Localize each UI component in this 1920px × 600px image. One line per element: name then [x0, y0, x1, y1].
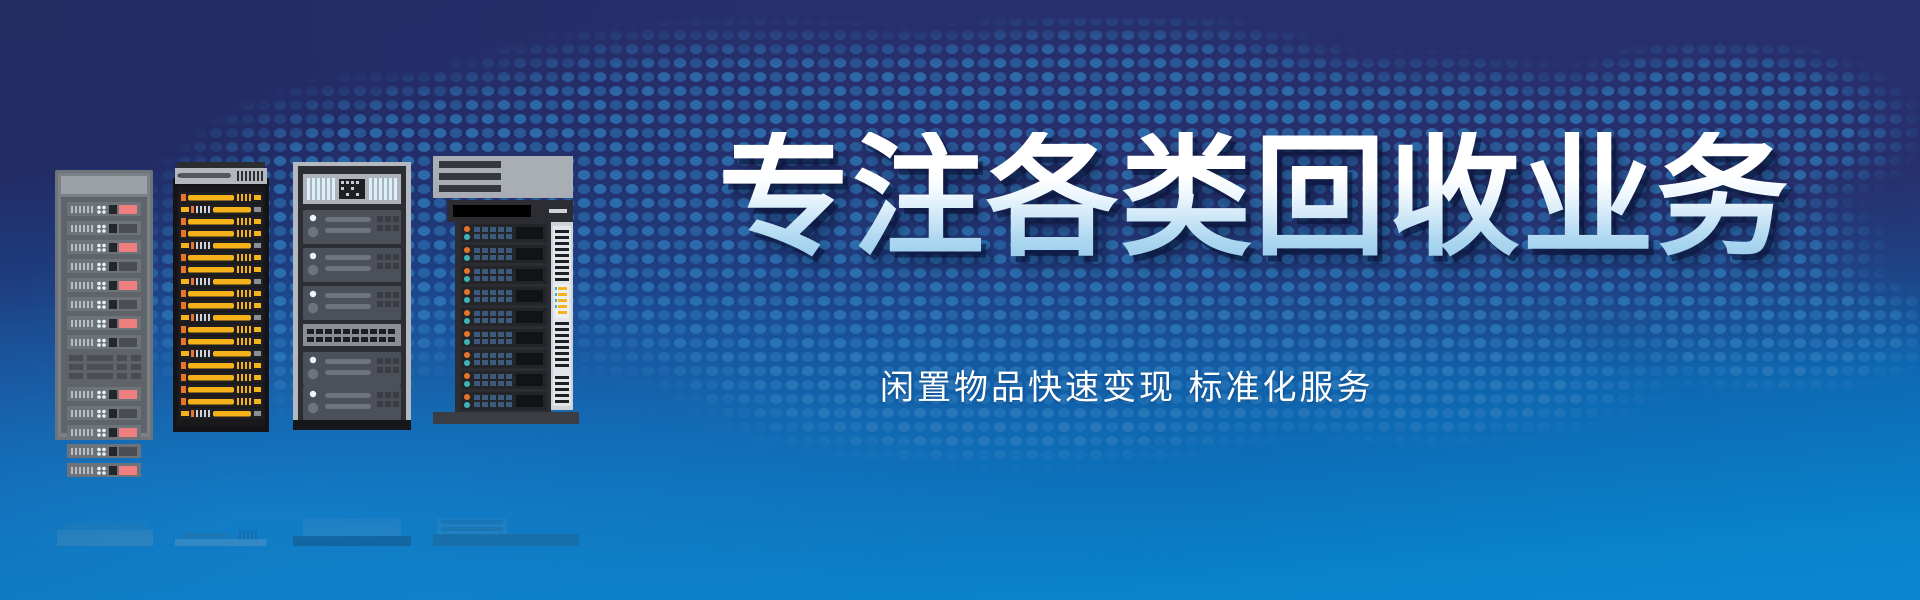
headline-text: 专注各类回收业务 [718, 132, 1790, 264]
rack-1 [55, 170, 153, 477]
rack-3 [293, 162, 411, 430]
banner-headline: 专注各类回收业务 [718, 118, 1778, 278]
server-racks-illustration-icon [55, 148, 615, 488]
banner-subtitle: 闲置物品快速变现 标准化服务 [880, 368, 1373, 409]
promo-banner: 专注各类回收业务 闲置物品快速变现 标准化服务 [0, 0, 1920, 600]
rack-4 [433, 156, 579, 424]
rack-2 [173, 162, 269, 432]
